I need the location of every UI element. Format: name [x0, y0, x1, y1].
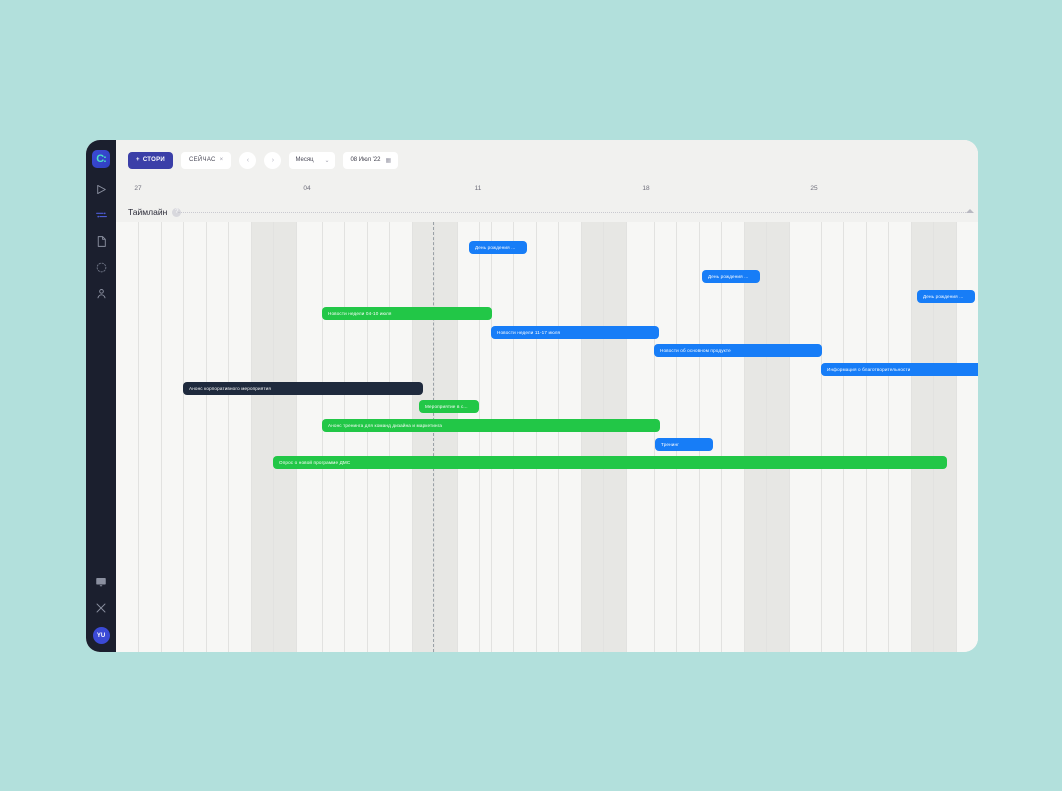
- ruler-tick: 18: [642, 185, 649, 192]
- timeline-icon: [95, 209, 108, 222]
- app-logo[interactable]: C:: [92, 150, 110, 168]
- gridline: [322, 222, 323, 652]
- gridline: [434, 222, 435, 652]
- gridline: [888, 222, 889, 652]
- avatar[interactable]: YU: [93, 627, 110, 644]
- gantt-chart: День рождения ...День рождения ...День р…: [116, 222, 978, 652]
- gridline: [744, 222, 745, 652]
- gridline: [206, 222, 207, 652]
- page-title: Таймлайн: [128, 207, 167, 217]
- ruler-tick: 04: [303, 185, 310, 192]
- gantt-bar[interactable]: День рождения ...: [469, 241, 527, 254]
- gridline: [821, 222, 822, 652]
- sidebar-item-monitor[interactable]: [94, 575, 108, 589]
- plus-icon: +: [136, 157, 140, 163]
- chevron-down-icon: ⌄: [324, 157, 329, 164]
- play-icon: [95, 183, 108, 196]
- tools-icon: [95, 602, 107, 614]
- sidebar-item-play[interactable]: [94, 182, 108, 196]
- person-icon: [95, 287, 108, 300]
- gantt-bar[interactable]: День рождения ...: [917, 290, 975, 303]
- gridline: [911, 222, 912, 652]
- gridline: [654, 222, 655, 652]
- gridline: [789, 222, 790, 652]
- add-story-label: СТОРИ: [143, 157, 165, 163]
- gridline: [273, 222, 274, 652]
- gridline: [603, 222, 604, 652]
- gantt-bar[interactable]: Новости недели 04-10 июля: [322, 307, 492, 320]
- collapse-icon[interactable]: [966, 209, 974, 213]
- sidebar-nav: [94, 182, 108, 300]
- monitor-icon: [95, 576, 107, 588]
- gantt-bar[interactable]: Новости недели 11-17 июля: [491, 326, 659, 339]
- gridline: [866, 222, 867, 652]
- gridline: [536, 222, 537, 652]
- gridline: [721, 222, 722, 652]
- gridline: [581, 222, 582, 652]
- today-line: [433, 222, 434, 652]
- add-story-button[interactable]: + СТОРИ: [128, 152, 173, 169]
- gridline: [933, 222, 934, 652]
- now-filter-label: СЕЙЧАС: [189, 157, 216, 163]
- gridline: [183, 222, 184, 652]
- gridline: [457, 222, 458, 652]
- gridline: [479, 222, 480, 652]
- sidebar-item-analytics[interactable]: [94, 260, 108, 274]
- gridline: [766, 222, 767, 652]
- main-area: + СТОРИ СЕЙЧАС × ‹ › Месяц ⌄ 08 Июл '22 …: [116, 140, 978, 652]
- gridline: [956, 222, 957, 652]
- ruler-tick: 11: [475, 185, 482, 192]
- gridline: [296, 222, 297, 652]
- gridline: [367, 222, 368, 652]
- date-ruler: 2704111825: [116, 180, 978, 202]
- scale-select[interactable]: Месяц ⌄: [289, 152, 335, 169]
- gridline: [161, 222, 162, 652]
- gantt-bar[interactable]: Новости об основном продукте: [654, 344, 822, 357]
- gridline: [491, 222, 492, 652]
- ruler-tick: 25: [810, 185, 817, 192]
- sidebar-item-documents[interactable]: [94, 234, 108, 248]
- date-picker[interactable]: 08 Июл '22 ▦: [343, 152, 398, 169]
- date-picker-value: 08 Июл '22: [350, 157, 380, 163]
- sidebar-item-tools[interactable]: [94, 601, 108, 615]
- sidebar-item-users[interactable]: [94, 286, 108, 300]
- close-icon[interactable]: ×: [220, 157, 224, 163]
- sidebar: C:: [86, 140, 116, 652]
- gantt-bar[interactable]: Информация о благотворительности: [821, 363, 978, 376]
- gantt-bar[interactable]: Опрос о новой программе ДМС: [273, 456, 947, 469]
- gantt-bar[interactable]: Анонс тренинга для команд дизайна и марк…: [322, 419, 660, 432]
- sparkle-icon: [95, 261, 108, 274]
- now-filter-chip[interactable]: СЕЙЧАС ×: [181, 152, 231, 169]
- gridline: [558, 222, 559, 652]
- gridline: [513, 222, 514, 652]
- gridline: [412, 222, 413, 652]
- document-icon: [95, 235, 108, 248]
- gantt-bar[interactable]: Тренинг: [655, 438, 713, 451]
- gridline: [843, 222, 844, 652]
- sidebar-item-timeline[interactable]: [94, 208, 108, 222]
- calendar-icon: ▦: [385, 157, 391, 164]
- sidebar-bottom-nav: YU: [86, 575, 116, 644]
- prev-period-button[interactable]: ‹: [239, 152, 256, 169]
- ruler-tick: 27: [134, 185, 141, 192]
- gridline: [251, 222, 252, 652]
- scale-select-value: Месяц: [295, 157, 313, 163]
- next-period-button[interactable]: ›: [264, 152, 281, 169]
- gantt-bar[interactable]: День рождения ...: [702, 270, 760, 283]
- gantt-bar[interactable]: Мероприятие в с...: [419, 400, 479, 413]
- timeline-row-header[interactable]: Таймлайн ?: [116, 202, 978, 222]
- gridline: [228, 222, 229, 652]
- gridline: [344, 222, 345, 652]
- app-window: C:: [86, 140, 978, 652]
- gridline: [676, 222, 677, 652]
- gridline: [138, 222, 139, 652]
- gridline: [626, 222, 627, 652]
- gridline: [389, 222, 390, 652]
- gantt-bar[interactable]: Анонс корпоративного мероприятия: [183, 382, 423, 395]
- toolbar: + СТОРИ СЕЙЧАС × ‹ › Месяц ⌄ 08 Июл '22 …: [116, 140, 978, 180]
- divider: [178, 212, 968, 213]
- gridline: [699, 222, 700, 652]
